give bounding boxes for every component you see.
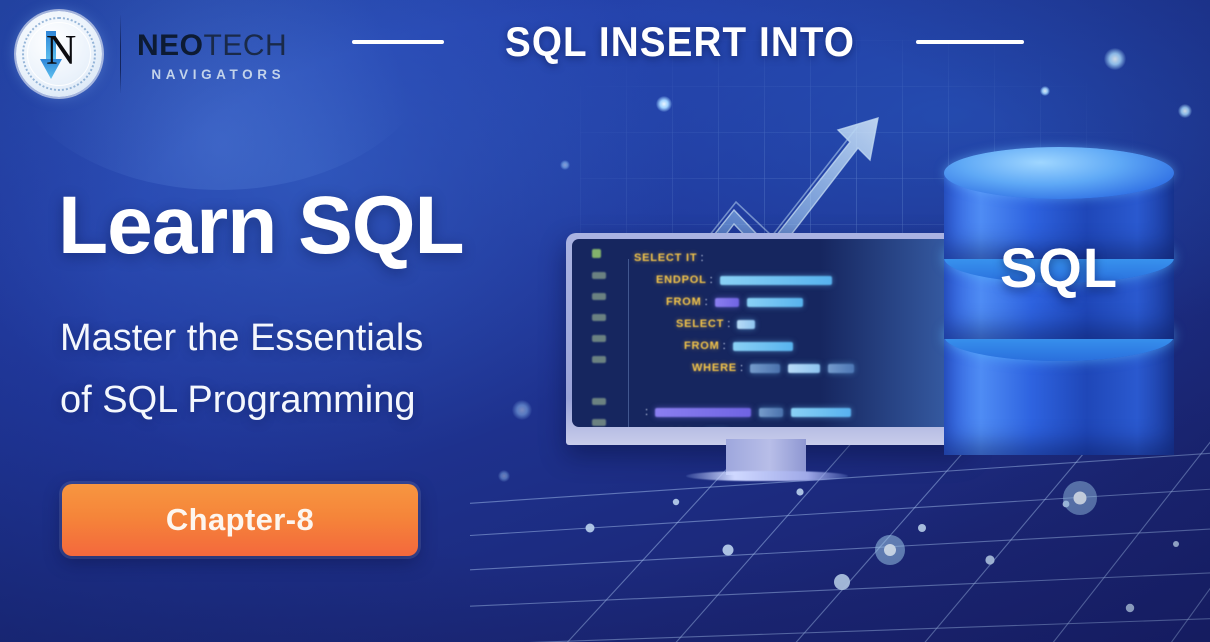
- code-keyword: FROM: [666, 296, 702, 308]
- code-punctuation: :: [727, 318, 730, 330]
- code-punctuation: :: [705, 296, 708, 308]
- code-line: [634, 379, 952, 401]
- code-line-number: [592, 419, 606, 426]
- code-line-numbers: [586, 249, 618, 427]
- code-line: WHERE:: [634, 423, 952, 427]
- code-line-number: [592, 356, 606, 363]
- code-keyword: FROM: [684, 340, 720, 352]
- hero-subhead: Master the Essentials of SQL Programming: [60, 308, 530, 431]
- code-token-bar: [788, 364, 820, 373]
- monitor-screen: SELECT IT:ENDPOL:FROM:SELECT:FROM:WHERE:…: [572, 239, 960, 427]
- hero-subhead-line-1: Master the Essentials: [60, 308, 530, 370]
- code-keyword: SELECT: [676, 318, 724, 330]
- code-token-bar: [828, 364, 854, 373]
- code-punctuation: :: [645, 406, 648, 418]
- code-line-number: [592, 314, 606, 321]
- code-line: SELECT IT:: [634, 247, 952, 269]
- code-punctuation: :: [723, 340, 726, 352]
- code-keyword: WHERE: [692, 362, 737, 374]
- code-punctuation: :: [700, 252, 703, 264]
- code-token-bar: [720, 276, 832, 285]
- code-token-bar: [737, 320, 755, 329]
- code-token-bar: [747, 298, 803, 307]
- title-rule-left: [352, 40, 444, 44]
- sql-course-banner: N NEOTECH NAVIGATORS SQL INSERT INTO Lea…: [0, 0, 1210, 642]
- hero-headline: Learn SQL: [58, 185, 464, 267]
- hero-subhead-line-2: of SQL Programming: [60, 370, 530, 432]
- monitor-frame: SELECT IT:ENDPOL:FROM:SELECT:FROM:WHERE:…: [566, 233, 966, 445]
- code-token-bar: [655, 408, 751, 417]
- brand-logo[interactable]: N NEOTECH NAVIGATORS: [16, 6, 287, 102]
- logo-badge-icon: N: [16, 11, 102, 97]
- code-line-number: [592, 398, 606, 405]
- brand-name: NEOTECH: [137, 30, 287, 62]
- code-keyword: SELECT IT: [634, 252, 697, 264]
- code-line: FROM:: [634, 291, 952, 313]
- code-line: :: [634, 401, 952, 423]
- chapter-button[interactable]: Chapter-8: [62, 484, 418, 556]
- code-line: SELECT:: [634, 313, 952, 335]
- code-token-bar: [715, 298, 739, 307]
- code-token-bar: [759, 408, 783, 417]
- logo-divider: [120, 15, 121, 93]
- database-top-cap: [944, 147, 1174, 199]
- logo-letter-n: N: [46, 26, 76, 76]
- brand-tagline: NAVIGATORS: [137, 67, 287, 82]
- database-cylinder-icon: SQL: [944, 147, 1174, 487]
- code-punctuation: :: [740, 362, 743, 374]
- header-title-row: SQL INSERT INTO: [352, 18, 1024, 66]
- desktop-monitor-icon: SELECT IT:ENDPOL:FROM:SELECT:FROM:WHERE:…: [566, 233, 966, 533]
- title-rule-right: [916, 40, 1024, 44]
- monitor-base: [686, 471, 848, 481]
- code-editor-content: SELECT IT:ENDPOL:FROM:SELECT:FROM:WHERE:…: [634, 247, 952, 427]
- page-title: SQL INSERT INTO: [483, 18, 877, 66]
- code-line: ENDPOL:: [634, 269, 952, 291]
- monitor-neck: [726, 439, 806, 475]
- database-label: SQL: [944, 235, 1174, 300]
- code-line-number: [592, 335, 606, 342]
- code-line: WHERE:: [634, 357, 952, 379]
- code-indent-rail: [628, 259, 629, 427]
- code-line-number: [592, 249, 601, 258]
- down-arrow-icon: [40, 31, 62, 79]
- code-line: FROM:: [634, 335, 952, 357]
- brand-name-neo: NEO: [137, 29, 204, 62]
- code-keyword: ENDPOL: [656, 274, 707, 286]
- code-token-bar: [791, 408, 851, 417]
- code-token-bar: [750, 364, 780, 373]
- code-punctuation: :: [710, 274, 713, 286]
- brand-name-tech: TECH: [204, 29, 288, 62]
- code-line-number: [592, 293, 606, 300]
- code-token-bar: [733, 342, 793, 351]
- code-line-number: [592, 272, 606, 279]
